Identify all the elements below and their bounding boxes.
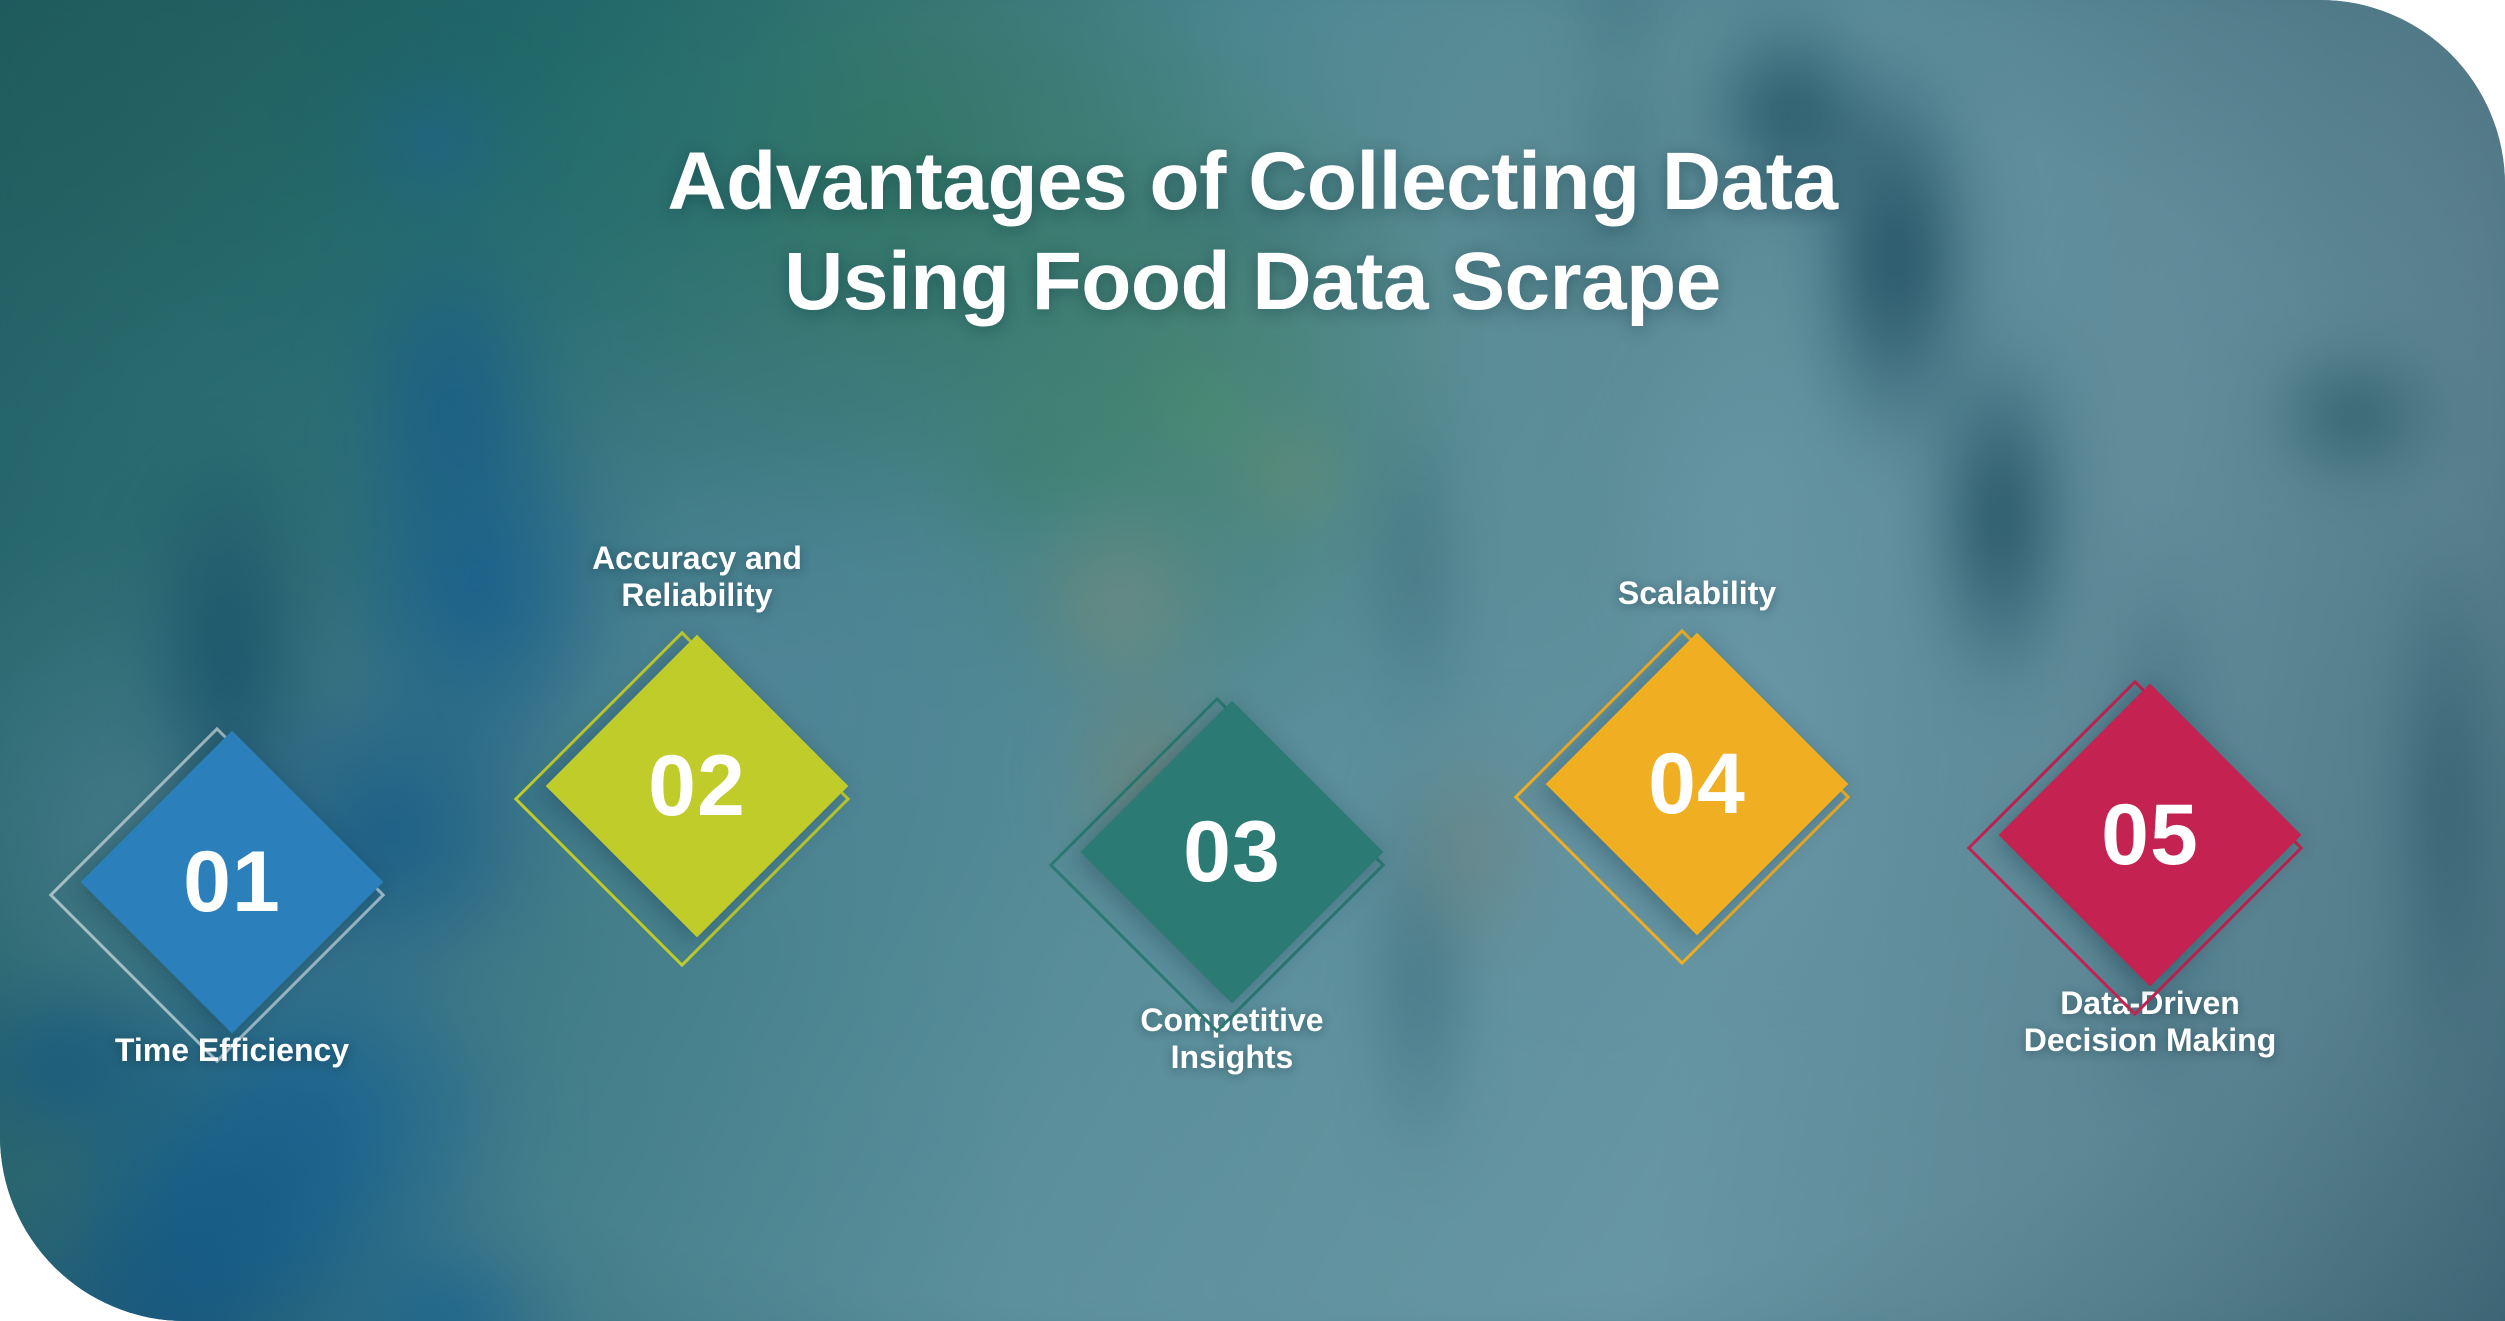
advantage-item-01[interactable]: 01 Time Efficiency (22, 762, 442, 1069)
advantage-label-04: Scalability (1487, 575, 1907, 612)
advantage-item-04[interactable]: Scalability 04 (1487, 575, 1907, 904)
diamond-number-04: 04 (1577, 664, 1817, 904)
diamond-number-02: 02 (577, 666, 817, 906)
diamond-number-03: 03 (1112, 732, 1352, 972)
infographic-card: Advantages of Collecting Data Using Food… (0, 0, 2505, 1321)
advantage-item-03[interactable]: 03 Competitive Insights (1022, 732, 1442, 1076)
diamond-05[interactable]: 05 (2030, 715, 2270, 955)
diamond-04[interactable]: 04 (1577, 664, 1817, 904)
diamond-01[interactable]: 01 (112, 762, 352, 1002)
advantage-label-02: Accuracy and Reliability (487, 540, 907, 614)
diamond-02[interactable]: 02 (577, 666, 817, 906)
diamond-number-05: 05 (2030, 715, 2270, 955)
background-photo: Advantages of Collecting Data Using Food… (0, 0, 2505, 1321)
advantage-item-05[interactable]: 05 Data-Driven Decision Making (1940, 715, 2360, 1059)
diamond-03[interactable]: 03 (1112, 732, 1352, 972)
diamond-number-01: 01 (112, 762, 352, 1002)
advantages-row: 01 Time Efficiency Accuracy and Reliabil… (0, 0, 2505, 1321)
advantage-item-02[interactable]: Accuracy and Reliability 02 (487, 540, 907, 906)
